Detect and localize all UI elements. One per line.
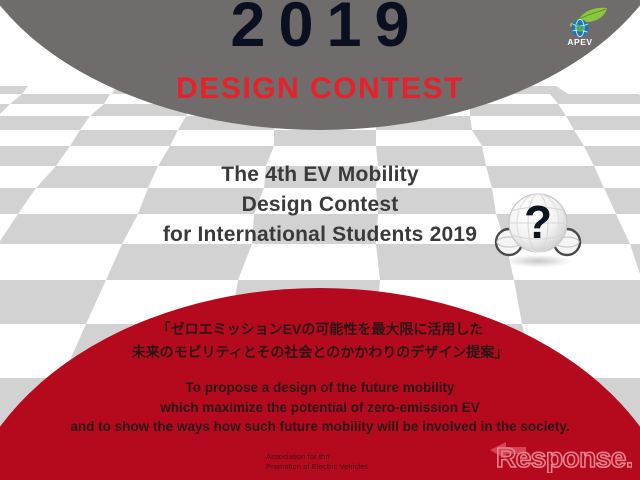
association-credit: Association for the Promotion of Electri… bbox=[266, 452, 368, 473]
design-contest-heading: DESIGN CONTEST bbox=[0, 72, 640, 106]
globe-car-question-icon: ? bbox=[486, 183, 590, 269]
english-theme-statement: To propose a design of the future mobili… bbox=[0, 378, 640, 437]
apev-logo-icon: APEV bbox=[563, 4, 611, 48]
response-wordmark-icon: Response. bbox=[486, 437, 632, 473]
question-mark-glyph: ? bbox=[524, 196, 552, 248]
japanese-theme-line-2: 未来のモビリティとその社会とのかかわりのデザイン提案」 bbox=[0, 341, 640, 364]
english-theme-line-2: which maximize the potential of zero-emi… bbox=[0, 398, 640, 418]
poster-canvas: 2019 DESIGN CONTEST APEV The 4th EV Mobi… bbox=[0, 0, 640, 480]
svg-text:APEV: APEV bbox=[567, 37, 592, 47]
association-credit-line-2: Promotion of Electric Vehicles bbox=[266, 462, 368, 472]
association-credit-line-1: Association for the bbox=[266, 452, 368, 462]
response-wordmark-text: Response. bbox=[496, 442, 632, 473]
english-theme-line-3: and to show the ways how such future mob… bbox=[0, 417, 640, 437]
japanese-theme-line-1: 「ゼロエミッションEVの可能性を最大限に活用した bbox=[0, 318, 640, 341]
page-title-year: 2019 bbox=[0, 0, 640, 57]
english-theme-line-1: To propose a design of the future mobili… bbox=[0, 378, 640, 398]
japanese-theme-statement: 「ゼロエミッションEVの可能性を最大限に活用した 未来のモビリティとその社会との… bbox=[0, 318, 640, 363]
